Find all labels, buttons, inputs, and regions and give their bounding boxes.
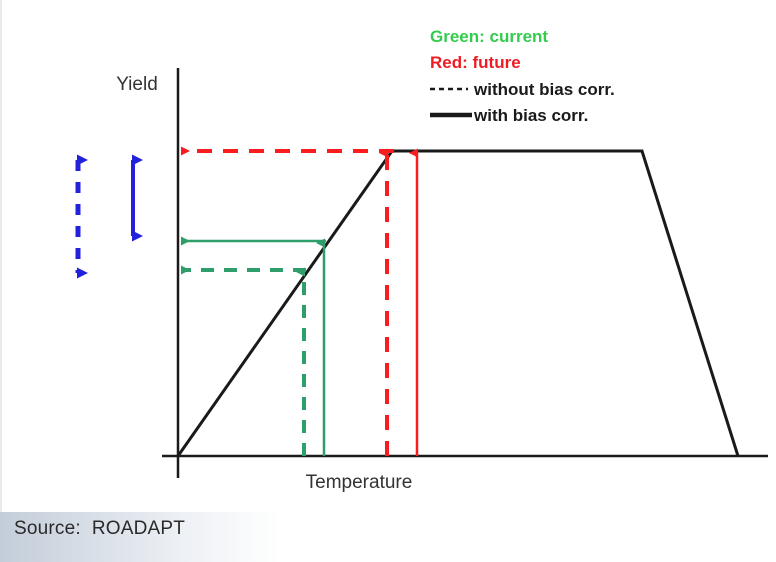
x-axis-label: Temperature [306, 472, 413, 493]
slide-root: Yield Temperature [0, 0, 776, 562]
yield-response-curve [178, 151, 738, 456]
axes-group: Yield Temperature [116, 68, 768, 493]
y-axis-label: Yield [116, 74, 158, 95]
legend-item-with-bias-corr: with bias corr. [473, 106, 588, 125]
legend: Green: current Red: future without bias … [430, 27, 615, 125]
slide-canvas: Yield Temperature [0, 0, 776, 512]
legend-item-without-bias-corr: without bias corr. [473, 80, 615, 99]
response-curve-path [178, 151, 738, 456]
yield-temperature-figure: Yield Temperature [2, 0, 776, 512]
legend-item-green-current: Green: current [430, 27, 548, 46]
legend-item-red-future: Red: future [430, 53, 521, 72]
source-label: Source: ROADAPT [14, 518, 185, 540]
